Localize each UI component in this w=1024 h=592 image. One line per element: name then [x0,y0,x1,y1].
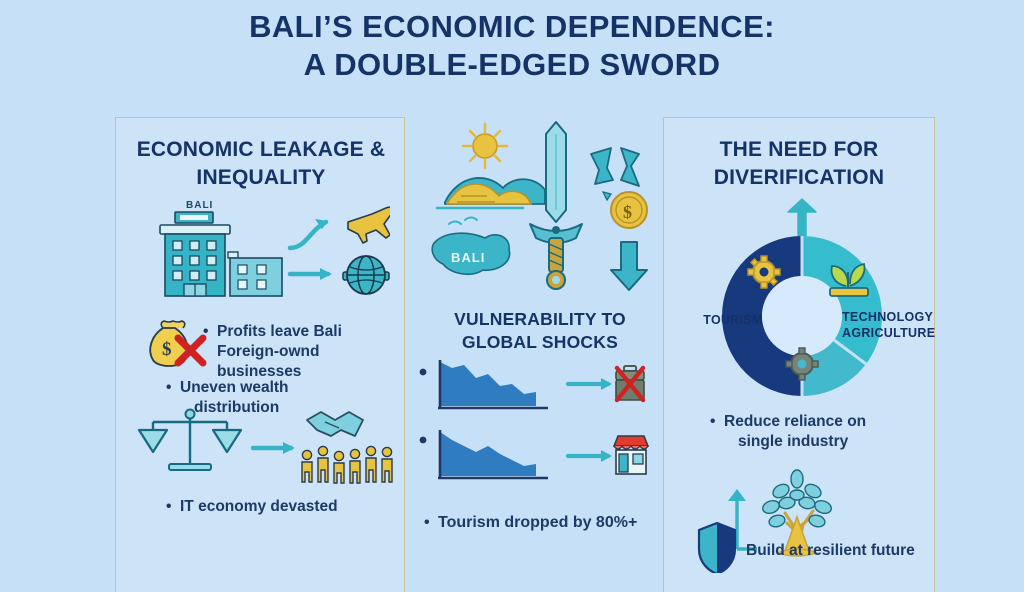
left-bullet-1-line-2: Foreign-ownd businesses [217,342,398,382]
donut-label-tourism: TOURISM [694,313,772,329]
right-bullet-1: • Reduce reliance on single industry [710,412,910,452]
left-bullet-3-line-1: IT economy devasted [180,497,376,517]
left-bullet-3: • IT economy devasted [166,497,376,517]
left-panel-heading: ECONOMIC LEAKAGE & INEQUALITY [122,136,400,193]
bullet-marker: • [203,322,208,342]
right-heading-line-2: DIVERIFICATION [714,166,884,189]
title-line-1: BALI’S ECONOMIC DEPENDENCE: [249,9,775,44]
double-edged-sword-scene-icon: BALI $ [425,118,655,298]
bullet-marker: • [166,378,171,398]
left-heading-line-1: ECONOMIC LEAKAGE & [137,138,386,161]
left-bullet-1: • Profits leave Bali Foreign-ownd busine… [203,322,398,381]
center-heading-line-1: VULNERABILITY TO [454,309,626,329]
page-title: BALI’S ECONOMIC DEPENDENCE: A DOUBLE-EDG… [0,8,1024,84]
title-line-2: A DOUBLE-EDGED SWORD [0,46,1024,84]
svg-text:BALI: BALI [186,200,213,211]
right-bullet-1-line-2: single industry [724,432,910,452]
right-heading-line-1: THE NEED FOR [720,138,879,161]
center-bullet-1: • Tourism dropped by 80%+ [424,513,664,533]
right-bullet-2: Build at resilient future [746,541,956,561]
center-bullet-1-line-1: Tourism dropped by 80%+ [438,513,664,533]
left-heading-line-2: INEQUALITY [196,166,325,189]
donut-label-technology-agriculture: TECHNOLOGY AGRICULTURE [842,310,932,341]
right-bullet-1-line-1: Reduce reliance on [724,412,910,432]
hotel-to-global-flow-icon: BALI [150,196,390,306]
money-bag-crossed-icon: $ [141,318,211,374]
center-heading-line-2: GLOBAL SHOCKS [462,332,618,352]
bali-map-label: BALI [451,250,485,265]
inequality-distribution-icon [135,404,395,494]
right-panel-heading: THE NEED FOR DIVERIFICATION [670,136,928,193]
left-bullet-2-line-1: Uneven wealth [180,378,346,398]
infographic-canvas: BALI’S ECONOMIC DEPENDENCE: A DOUBLE-EDG… [0,0,1024,576]
bullet-marker: • [166,497,171,517]
donut-label-agriculture: AGRICULTURE [842,326,935,340]
center-heading: VULNERABILITY TO GLOBAL SHOCKS [418,308,662,354]
bullet-marker: • [710,412,715,432]
right-bullet-2-line-1: Build at resilient future [746,541,956,561]
left-bullet-1-line-1: Profits leave Bali [217,322,398,342]
donut-label-technology: TECHNOLOGY [842,310,933,324]
svg-text:$: $ [162,339,172,360]
svg-text:$: $ [623,202,632,222]
bullet-marker: • [424,513,430,533]
chart-decline-business [418,358,650,424]
chart-decline-shop [418,428,650,494]
